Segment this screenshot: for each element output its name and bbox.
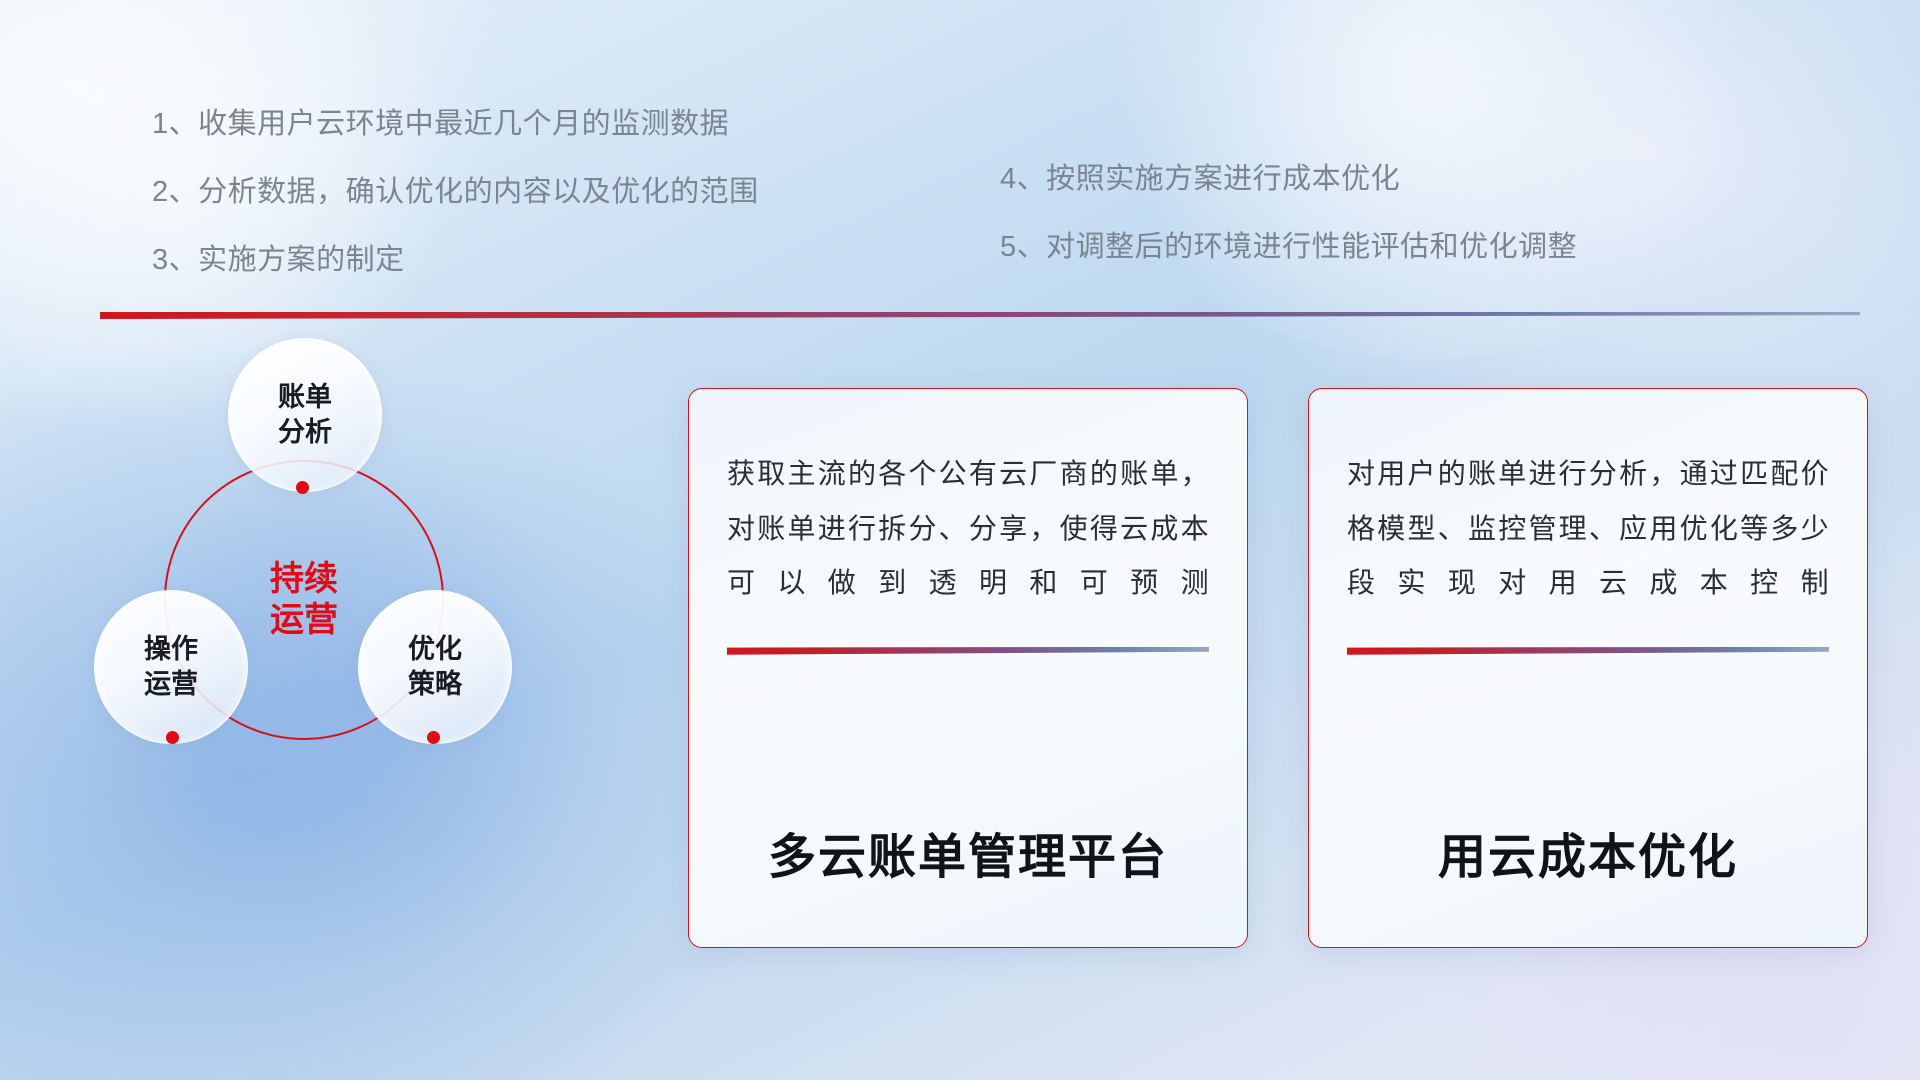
diagram-center-label-line2: 运营 xyxy=(270,600,338,641)
continuous-operation-diagram: 持续 运营 账单 分析 操作 运营 优化 策略 xyxy=(90,350,560,910)
diagram-node-label-line1: 账单 xyxy=(278,380,332,415)
feature-card-cloud-cost-optimization[interactable]: 对用户的账单进行分析，通过匹配价格模型、监控管理、应用优化等多少段实现对用云成本… xyxy=(1308,388,1868,948)
bullet-item-3: 3、实施方案的制定 xyxy=(152,236,759,278)
diagram-node-optimization-strategy[interactable]: 优化 策略 xyxy=(358,590,512,744)
diagram-node-label: 优化 策略 xyxy=(408,632,462,701)
bullet-item-4: 4、按照实施方案进行成本优化 xyxy=(1000,155,1577,197)
diagram-junction-dot-bottom-right xyxy=(427,731,440,744)
diagram-node-label-line2: 分析 xyxy=(278,415,332,450)
diagram-node-label-line2: 策略 xyxy=(408,667,462,702)
diagram-center-label: 持续 运营 xyxy=(270,559,338,642)
feature-card-body: 获取主流的各个公有云厂商的账单，对账单进行拆分、分享，使得云成本可以做到透明和可… xyxy=(727,447,1209,611)
section-divider-rule xyxy=(100,312,1860,319)
feature-card-divider xyxy=(727,647,1209,655)
feature-card-divider xyxy=(1347,647,1829,655)
bullet-list-left: 1、收集用户云环境中最近几个月的监测数据 2、分析数据，确认优化的内容以及优化的… xyxy=(152,100,759,304)
bullet-item-1: 1、收集用户云环境中最近几个月的监测数据 xyxy=(152,100,759,142)
diagram-node-label-line1: 操作 xyxy=(144,632,198,667)
diagram-node-label-line1: 优化 xyxy=(408,632,462,667)
diagram-node-label: 操作 运营 xyxy=(144,632,198,701)
slide-canvas: 1、收集用户云环境中最近几个月的监测数据 2、分析数据，确认优化的内容以及优化的… xyxy=(0,0,1920,1080)
diagram-node-label: 账单 分析 xyxy=(278,380,332,449)
feature-card-body: 对用户的账单进行分析，通过匹配价格模型、监控管理、应用优化等多少段实现对用云成本… xyxy=(1347,447,1829,611)
diagram-center-label-line1: 持续 xyxy=(270,559,338,600)
diagram-junction-dot-top xyxy=(296,481,309,494)
bullet-item-2: 2、分析数据，确认优化的内容以及优化的范围 xyxy=(152,168,759,210)
diagram-node-bill-analysis[interactable]: 账单 分析 xyxy=(228,338,382,492)
diagram-junction-dot-bottom-left xyxy=(166,731,179,744)
feature-card-title: 多云账单管理平台 xyxy=(727,817,1209,887)
bullet-item-5: 5、对调整后的环境进行性能评估和优化调整 xyxy=(1000,223,1577,265)
feature-card-title: 用云成本优化 xyxy=(1347,817,1829,887)
feature-card-multi-cloud-billing[interactable]: 获取主流的各个公有云厂商的账单，对账单进行拆分、分享，使得云成本可以做到透明和可… xyxy=(688,388,1248,948)
diagram-node-operations[interactable]: 操作 运营 xyxy=(94,590,248,744)
diagram-node-label-line2: 运营 xyxy=(144,667,198,702)
bullet-list-right: 4、按照实施方案进行成本优化 5、对调整后的环境进行性能评估和优化调整 xyxy=(1000,155,1577,291)
